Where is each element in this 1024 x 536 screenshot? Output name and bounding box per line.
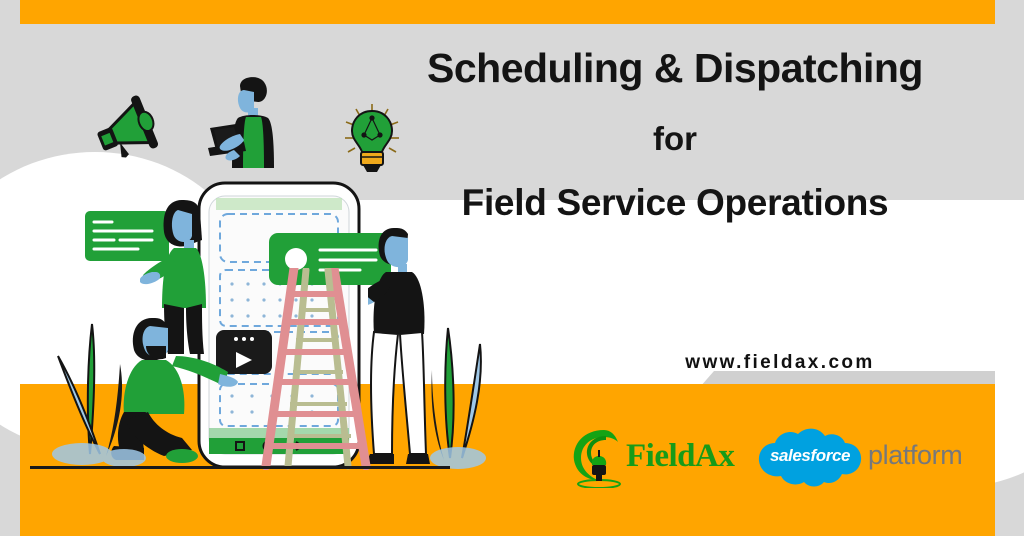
person-with-laptop	[196, 72, 316, 190]
headline-line-3: Field Service Operations	[350, 183, 1000, 224]
fieldax-logo[interactable]: FieldAx	[570, 424, 750, 490]
salesforce-wordmark: salesforce	[768, 446, 852, 466]
top-orange-bar	[20, 0, 995, 24]
headline-line-1: Scheduling & Dispatching	[350, 46, 1000, 91]
plant-cluster-left	[48, 318, 160, 470]
salesforce-platform-logo[interactable]: salesforce platform	[756, 426, 966, 488]
banner-root: Scheduling & Dispatching for Field Servi…	[0, 0, 1024, 536]
megaphone-icon	[90, 90, 170, 170]
website-url[interactable]: www.fieldax.com	[600, 352, 960, 374]
fieldax-wordmark: FieldAx	[626, 438, 734, 475]
headline-block: Scheduling & Dispatching for Field Servi…	[350, 46, 1000, 224]
logo-row: FieldAx salesforce platform	[570, 424, 970, 494]
platform-wordmark: platform	[868, 440, 962, 471]
headline-line-2: for	[350, 121, 1000, 157]
fieldax-swirl-icon	[570, 426, 628, 488]
plant-cluster-right	[424, 318, 496, 470]
ladder	[248, 268, 388, 470]
ground-line	[30, 466, 450, 469]
